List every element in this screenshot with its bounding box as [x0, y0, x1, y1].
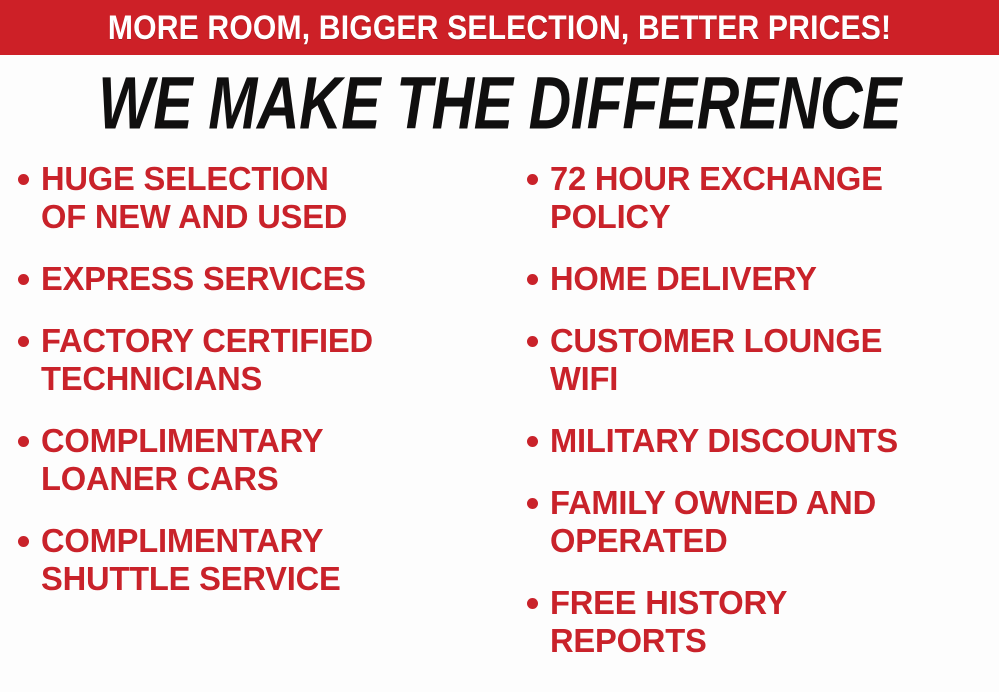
- list-item: CUSTOMER LOUNGE WIFI: [527, 322, 999, 398]
- top-red-banner: MORE ROOM, BIGGER SELECTION, BETTER PRIC…: [0, 0, 999, 55]
- bullet-dot-icon: [18, 536, 29, 547]
- list-item-label: COMPLIMENTARY SHUTTLE SERVICE: [41, 522, 341, 598]
- bullet-dot-icon: [18, 336, 29, 347]
- promo-banner-page: MORE ROOM, BIGGER SELECTION, BETTER PRIC…: [0, 0, 999, 692]
- bullet-dot-icon: [527, 174, 538, 185]
- main-headline-text: WE MAKE THE DIFFERENCE: [98, 66, 901, 143]
- bullet-dot-icon: [527, 274, 538, 285]
- list-item-label: EXPRESS SERVICES: [41, 260, 366, 298]
- benefits-column-left: HUGE SELECTION OF NEW AND USED EXPRESS S…: [0, 160, 506, 622]
- bullet-dot-icon: [18, 274, 29, 285]
- list-item-label: FAMILY OWNED AND OPERATED: [550, 484, 876, 560]
- list-item: HOME DELIVERY: [527, 260, 999, 298]
- benefits-column-right: 72 HOUR EXCHANGE POLICY HOME DELIVERY CU…: [506, 160, 999, 684]
- list-item: HUGE SELECTION OF NEW AND USED: [18, 160, 506, 236]
- bullet-dot-icon: [527, 598, 538, 609]
- main-headline: WE MAKE THE DIFFERENCE: [0, 66, 999, 140]
- list-item-label: FACTORY CERTIFIED TECHNICIANS: [41, 322, 373, 398]
- list-item-label: HOME DELIVERY: [550, 260, 817, 298]
- list-item: MILITARY DISCOUNTS: [527, 422, 999, 460]
- list-item: COMPLIMENTARY SHUTTLE SERVICE: [18, 522, 506, 598]
- list-item-label: COMPLIMENTARY LOANER CARS: [41, 422, 323, 498]
- bullet-dot-icon: [18, 436, 29, 447]
- list-item-label: 72 HOUR EXCHANGE POLICY: [550, 160, 883, 236]
- list-item-label: MILITARY DISCOUNTS: [550, 422, 898, 460]
- list-item: FACTORY CERTIFIED TECHNICIANS: [18, 322, 506, 398]
- bullet-dot-icon: [527, 436, 538, 447]
- list-item: COMPLIMENTARY LOANER CARS: [18, 422, 506, 498]
- list-item: EXPRESS SERVICES: [18, 260, 506, 298]
- benefits-columns: HUGE SELECTION OF NEW AND USED EXPRESS S…: [0, 160, 999, 692]
- banner-headline-text: MORE ROOM, BIGGER SELECTION, BETTER PRIC…: [108, 11, 891, 45]
- bullet-dot-icon: [18, 174, 29, 185]
- list-item: FAMILY OWNED AND OPERATED: [527, 484, 999, 560]
- list-item-label: CUSTOMER LOUNGE WIFI: [550, 322, 882, 398]
- list-item-label: HUGE SELECTION OF NEW AND USED: [41, 160, 347, 236]
- bullet-dot-icon: [527, 336, 538, 347]
- list-item-label: FREE HISTORY REPORTS: [550, 584, 787, 660]
- bullet-dot-icon: [527, 498, 538, 509]
- list-item: FREE HISTORY REPORTS: [527, 584, 999, 660]
- list-item: 72 HOUR EXCHANGE POLICY: [527, 160, 999, 236]
